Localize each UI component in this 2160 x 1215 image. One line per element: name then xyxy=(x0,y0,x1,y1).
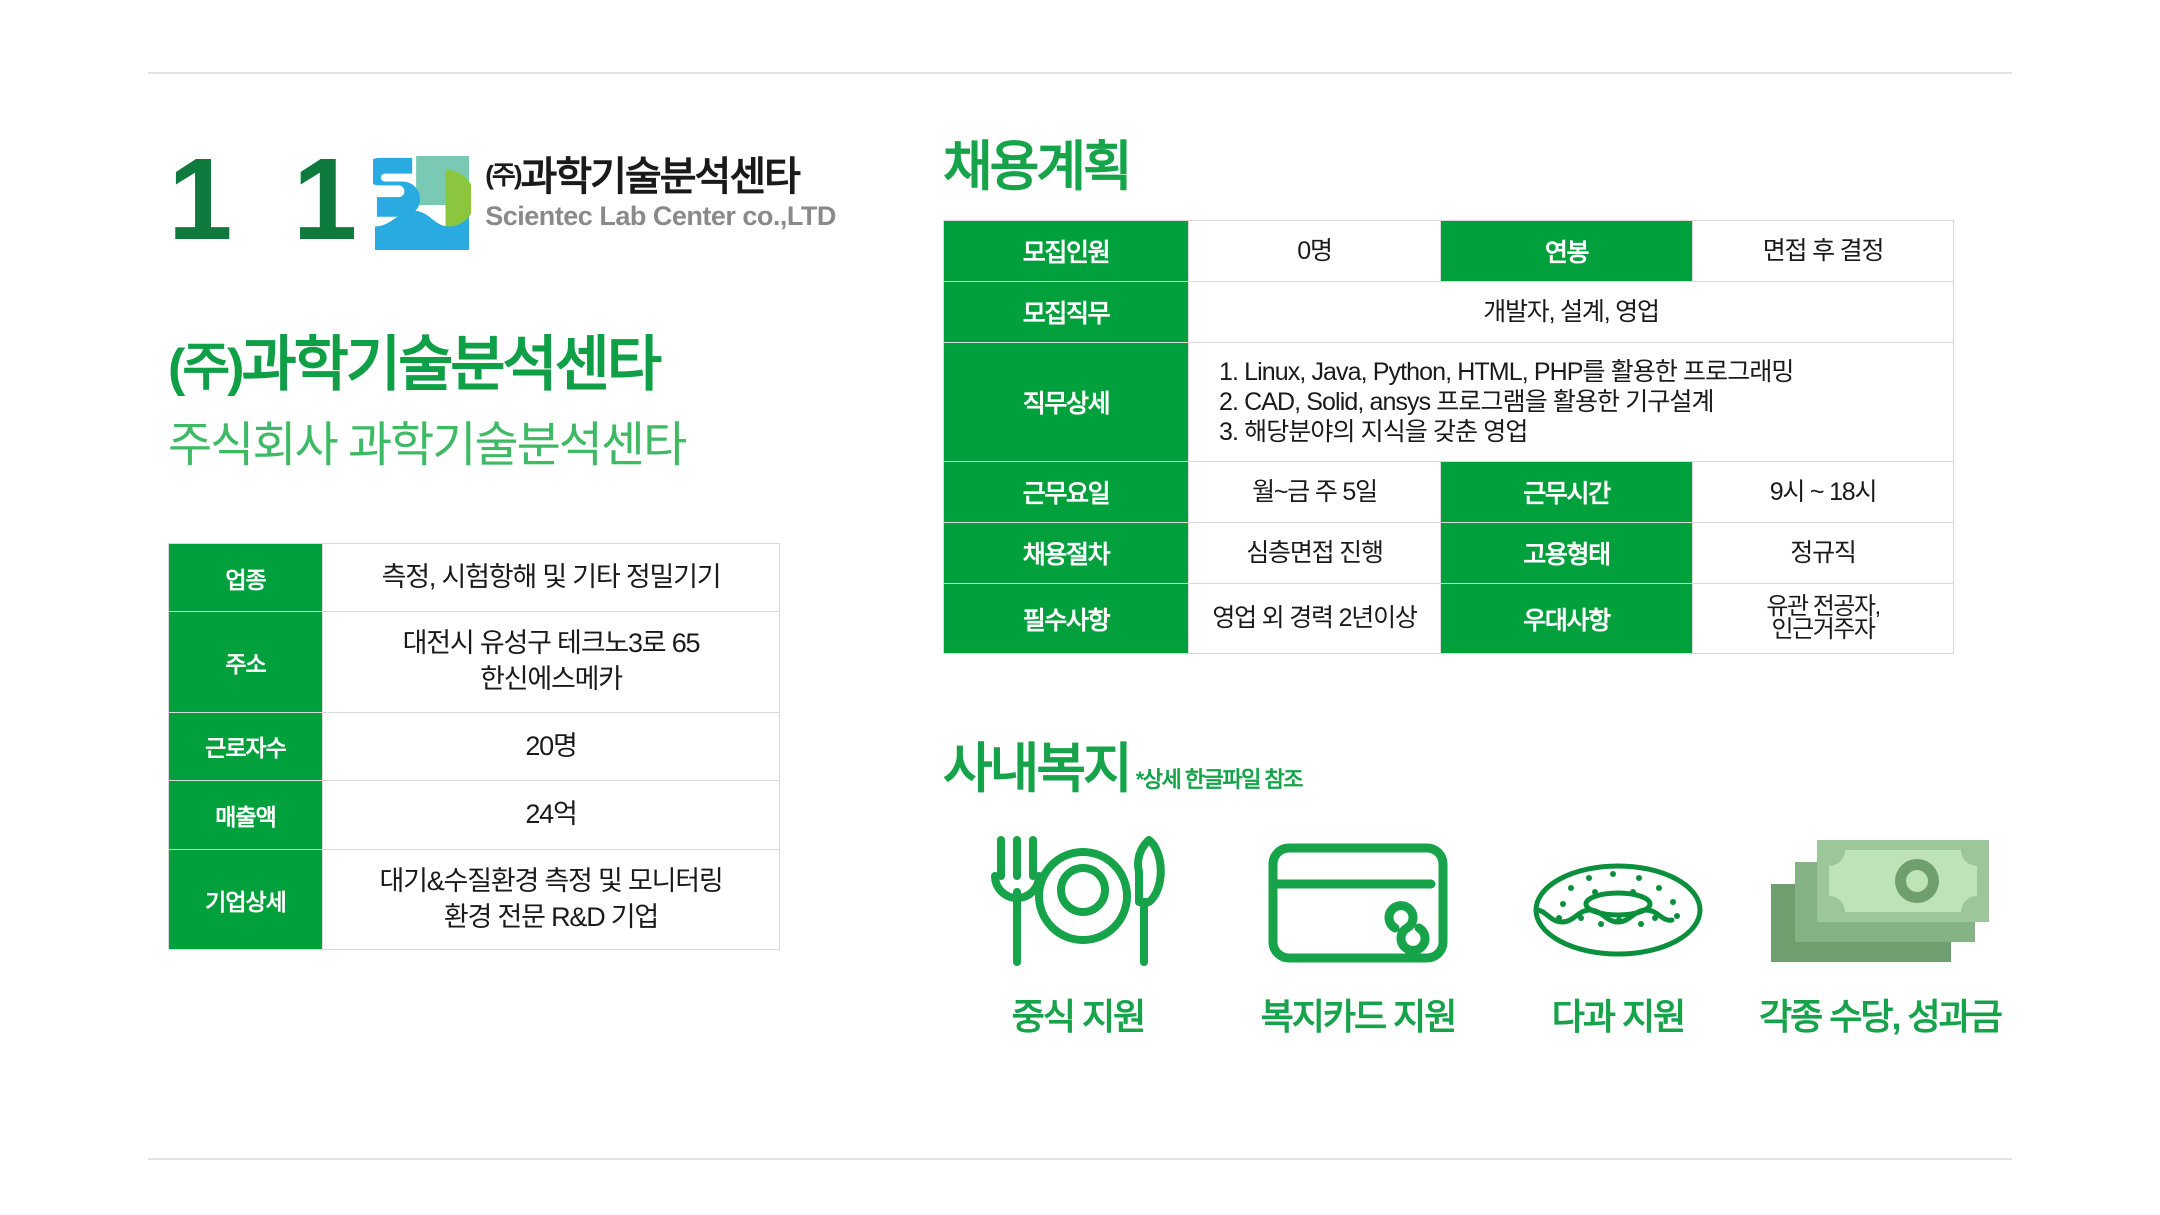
recruit-value: 심층면접 진행 xyxy=(1189,523,1441,584)
company-panel: 1 1 (주)과학기술분석센타 Scientec Lab Center co.,… xyxy=(168,140,808,950)
banknotes-icon xyxy=(1735,822,2025,972)
table-row: 직무상세 1. Linux, Java, Python, HTML, PHP를 … xyxy=(944,343,1954,462)
info-label: 근로자수 xyxy=(169,712,323,781)
logo-korean-main: 과학기술분석센타 xyxy=(521,155,799,199)
donut-icon xyxy=(1503,822,1733,972)
recruit-value: 면접 후 결정 xyxy=(1693,221,1954,282)
logo-english-name: Scientec Lab Center co.,LTD xyxy=(485,200,836,232)
table-row: 근로자수 20명 xyxy=(169,712,780,781)
divider-bottom xyxy=(148,1158,2012,1160)
table-row: 주소 대전시 유성구 테크노3로 65 한신에스메카 xyxy=(169,612,780,712)
recruit-label: 고용형태 xyxy=(1441,523,1693,584)
benefits-title: 사내복지 xyxy=(943,742,1130,796)
logo-digits: 1 1 xyxy=(168,140,371,254)
benefit-label: 다과 지원 xyxy=(1503,988,1733,1040)
recruit-value: 월~금 주 5일 xyxy=(1189,462,1441,523)
company-title-paren: (주) xyxy=(168,339,241,397)
logo-korean-paren: (주) xyxy=(485,160,520,190)
divider-top xyxy=(148,72,2012,74)
logo-korean-name: (주)과학기술분석센타 xyxy=(485,156,836,198)
logo-wordmark: (주)과학기술분석센타 Scientec Lab Center co.,LTD xyxy=(485,156,836,232)
poster-root: 1 1 (주)과학기술분석센타 Scientec Lab Center co.,… xyxy=(0,0,2160,1215)
recruit-panel: 채용계획 모집인원 0명 연봉 면접 후 결정 모집직무 개발자, 설계, 영업… xyxy=(943,140,1953,1040)
benefit-item: 각종 수당, 성과금 xyxy=(1735,822,2025,1040)
credit-card-icon xyxy=(1223,822,1493,972)
benefits-note: *상세 한글파일 참조 xyxy=(1136,762,1302,794)
recruit-label: 우대사항 xyxy=(1441,584,1693,654)
info-value: 측정, 시험항해 및 기타 정밀기기 xyxy=(323,543,780,612)
info-value: 대전시 유성구 테크노3로 65 한신에스메카 xyxy=(323,612,780,712)
recruit-value: 유관 전공자, 인근거주자 xyxy=(1693,584,1954,654)
recruit-heading: 채용계획 xyxy=(943,140,1953,194)
table-row: 채용절차 심층면접 진행 고용형태 정규직 xyxy=(944,523,1954,584)
benefits-heading: 사내복지 *상세 한글파일 참조 xyxy=(943,742,1953,796)
recruit-label: 근무요일 xyxy=(944,462,1189,523)
benefit-label: 각종 수당, 성과금 xyxy=(1735,988,2025,1040)
info-label: 업종 xyxy=(169,543,323,612)
company-title-main: 과학기술분석센타 xyxy=(241,331,659,398)
company-title: (주)과학기술분석센타 xyxy=(168,332,808,398)
recruit-label: 모집인원 xyxy=(944,221,1189,282)
info-label: 주소 xyxy=(169,612,323,712)
benefit-label: 중식 지원 xyxy=(943,988,1213,1040)
table-row: 매출액 24억 xyxy=(169,781,780,850)
recruit-label: 근무시간 xyxy=(1441,462,1693,523)
benefit-label: 복지카드 지원 xyxy=(1223,988,1493,1040)
company-info-table: 업종 측정, 시험항해 및 기타 정밀기기 주소 대전시 유성구 테크노3로 6… xyxy=(168,543,780,950)
recruit-label: 필수사항 xyxy=(944,584,1189,654)
recruit-label: 채용절차 xyxy=(944,523,1189,584)
info-label: 기업상세 xyxy=(169,849,323,949)
info-value: 24억 xyxy=(323,781,780,850)
benefit-item: 다과 지원 xyxy=(1503,822,1733,1040)
slc-logo-mark-icon xyxy=(373,154,471,252)
cutlery-plate-icon xyxy=(943,822,1213,972)
recruit-value-detail: 1. Linux, Java, Python, HTML, PHP를 활용한 프… xyxy=(1189,343,1954,462)
table-row: 근무요일 월~금 주 5일 근무시간 9시 ~ 18시 xyxy=(944,462,1954,523)
recruit-value: 0명 xyxy=(1189,221,1441,282)
recruit-label: 연봉 xyxy=(1441,221,1693,282)
recruit-plan-table: 모집인원 0명 연봉 면접 후 결정 모집직무 개발자, 설계, 영업 직무상세… xyxy=(943,220,1954,654)
benefit-item: 복지카드 지원 xyxy=(1223,822,1493,1040)
recruit-value: 영업 외 경력 2년이상 xyxy=(1189,584,1441,654)
recruit-value: 정규직 xyxy=(1693,523,1954,584)
table-row: 필수사항 영업 외 경력 2년이상 우대사항 유관 전공자, 인근거주자 xyxy=(944,584,1954,654)
recruit-title: 채용계획 xyxy=(943,140,1130,194)
info-value: 대기&수질환경 측정 및 모니터링 환경 전문 R&D 기업 xyxy=(323,849,780,949)
info-value: 20명 xyxy=(323,712,780,781)
company-subtitle: 주식회사 과학기술분석센타 xyxy=(168,420,808,473)
company-logo: 1 1 (주)과학기술분석센타 Scientec Lab Center co.,… xyxy=(168,140,808,270)
table-row: 업종 측정, 시험항해 및 기타 정밀기기 xyxy=(169,543,780,612)
table-row: 모집직무 개발자, 설계, 영업 xyxy=(944,282,1954,343)
recruit-value: 개발자, 설계, 영업 xyxy=(1189,282,1954,343)
recruit-label: 직무상세 xyxy=(944,343,1189,462)
table-row: 모집인원 0명 연봉 면접 후 결정 xyxy=(944,221,1954,282)
benefit-item: 중식 지원 xyxy=(943,822,1213,1040)
recruit-label: 모집직무 xyxy=(944,282,1189,343)
benefits-list: 중식 지원 복지카드 지원 xyxy=(943,822,1953,1040)
info-label: 매출액 xyxy=(169,781,323,850)
recruit-value: 9시 ~ 18시 xyxy=(1693,462,1954,523)
table-row: 기업상세 대기&수질환경 측정 및 모니터링 환경 전문 R&D 기업 xyxy=(169,849,780,949)
